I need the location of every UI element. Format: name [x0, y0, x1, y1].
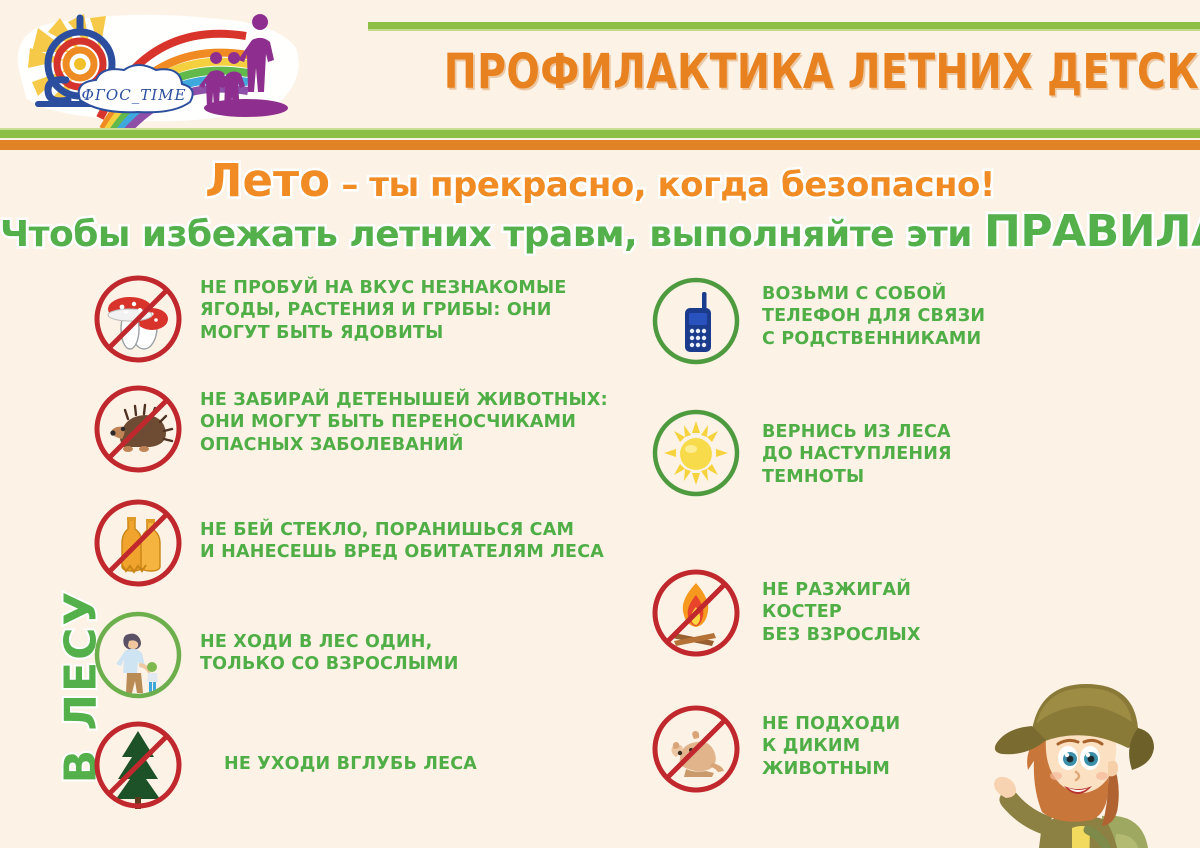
- rule-item: НЕ БЕЙ СТЕКЛО, ПОРАНИШЬСЯ САМ И НАНЕСЕШЬ…: [92, 497, 652, 589]
- mushrooms-icon: [92, 273, 184, 365]
- left-rules-column: НЕ ПРОБУЙ НА ВКУС НЕЗНАКОМЫЕ ЯГОДЫ, РАСТ…: [92, 271, 652, 821]
- rule-item: НЕ ХОДИ В ЛЕС ОДИН, ТОЛЬКО СО ВЗРОСЛЫМИ: [92, 609, 652, 701]
- rule-orange: [0, 140, 1200, 150]
- fgos-time-logo: ФГОС_TIME: [8, 8, 308, 128]
- rule-item: НЕ УХОДИ ВГЛУБЬ ЛЕСА: [92, 719, 652, 811]
- girl-hiker-illustration: [976, 666, 1200, 848]
- rule-item: НЕ ЗАБИРАЙ ДЕТЕНЫШЕЙ ЖИВОТНЫХ: ОНИ МОГУТ…: [92, 383, 652, 475]
- rule-text: ВЕРНИСЬ ИЗ ЛЕСА ДО НАСТУПЛЕНИЯ ТЕМНОТЫ: [742, 407, 952, 488]
- rule-text: НЕ УХОДИ ВГЛУБЬ ЛЕСА: [184, 719, 477, 775]
- rule-text: ВОЗЬМИ С СОБОЙ ТЕЛЕФОН ДЛЯ СВЯЗИ С РОДСТ…: [742, 275, 985, 350]
- subtitle-line-2: Чтобы избежать летних травм, выполняйте …: [0, 210, 1200, 255]
- rule-item: НЕ ПРОБУЙ НА ВКУС НЕЗНАКОМЫЕ ЯГОДЫ, РАСТ…: [92, 273, 652, 365]
- svg-text:ФГОС_TIME: ФГОС_TIME: [82, 86, 187, 104]
- poster-root: ФГОС_TIME ПРОФИЛАКТИКА ЛЕТНИХ ДЕТСКИХ ТР…: [0, 0, 1200, 848]
- rule-item: ВЕРНИСЬ ИЗ ЛЕСА ДО НАСТУПЛЕНИЯ ТЕМНОТЫ: [650, 407, 1050, 499]
- campfire-icon: [650, 567, 742, 659]
- mobile-phone-icon: [650, 275, 742, 367]
- subtitle-block: Лето – ты прекрасно, когда безопасно! Чт…: [0, 158, 1200, 255]
- page-title: ПРОФИЛАКТИКА ЛЕТНИХ ДЕТСКИХ ТРАВМ: [444, 44, 1116, 100]
- broken-bottles-icon: [92, 497, 184, 589]
- rule-text: НЕ РАЗЖИГАЙ КОСТЕР БЕЗ ВЗРОСЛЫХ: [742, 567, 921, 646]
- rule-item: НЕ РАЗЖИГАЙ КОСТЕР БЕЗ ВЗРОСЛЫХ: [650, 567, 1050, 659]
- rules-content: В ЛЕСУ: [0, 271, 1200, 831]
- sun-icon: [650, 407, 742, 499]
- subtitle-word-summer: Лето: [205, 154, 330, 207]
- subtitle-word-rules: ПРАВИЛА: [984, 206, 1200, 257]
- rule-text: НЕ БЕЙ СТЕКЛО, ПОРАНИШЬСЯ САМ И НАНЕСЕШЬ…: [184, 497, 604, 564]
- rule-text: НЕ ПРОБУЙ НА ВКУС НЕЗНАКОМЫЕ ЯГОДЫ, РАСТ…: [184, 273, 566, 344]
- header-divider: [0, 128, 1200, 150]
- fir-tree-icon: [92, 719, 184, 811]
- hedgehog-icon: [92, 383, 184, 475]
- poster-header: ФГОС_TIME ПРОФИЛАКТИКА ЛЕТНИХ ДЕТСКИХ ТР…: [0, 0, 1200, 140]
- rule-top-green: [368, 22, 1200, 31]
- rule-text: НЕ ХОДИ В ЛЕС ОДИН, ТОЛЬКО СО ВЗРОСЛЫМИ: [184, 609, 459, 676]
- rule-item: ВОЗЬМИ С СОБОЙ ТЕЛЕФОН ДЛЯ СВЯЗИ С РОДСТ…: [650, 275, 1050, 367]
- wild-animal-icon: [650, 703, 742, 795]
- subtitle-line-2-rest: Чтобы избежать летних травм, выполняйте …: [0, 214, 984, 255]
- title-area: ПРОФИЛАКТИКА ЛЕТНИХ ДЕТСКИХ ТРАВМ: [330, 0, 1200, 140]
- subtitle-line-1: Лето – ты прекрасно, когда безопасно!: [0, 158, 1200, 204]
- rule-text: НЕ ПОДХОДИ К ДИКИМ ЖИВОТНЫМ: [742, 703, 900, 780]
- subtitle-line-1-rest: – ты прекрасно, когда безопасно!: [330, 165, 995, 205]
- adult-with-child-icon: [92, 609, 184, 701]
- rule-green: [0, 128, 1200, 138]
- rule-text: НЕ ЗАБИРАЙ ДЕТЕНЫШЕЙ ЖИВОТНЫХ: ОНИ МОГУТ…: [184, 383, 608, 456]
